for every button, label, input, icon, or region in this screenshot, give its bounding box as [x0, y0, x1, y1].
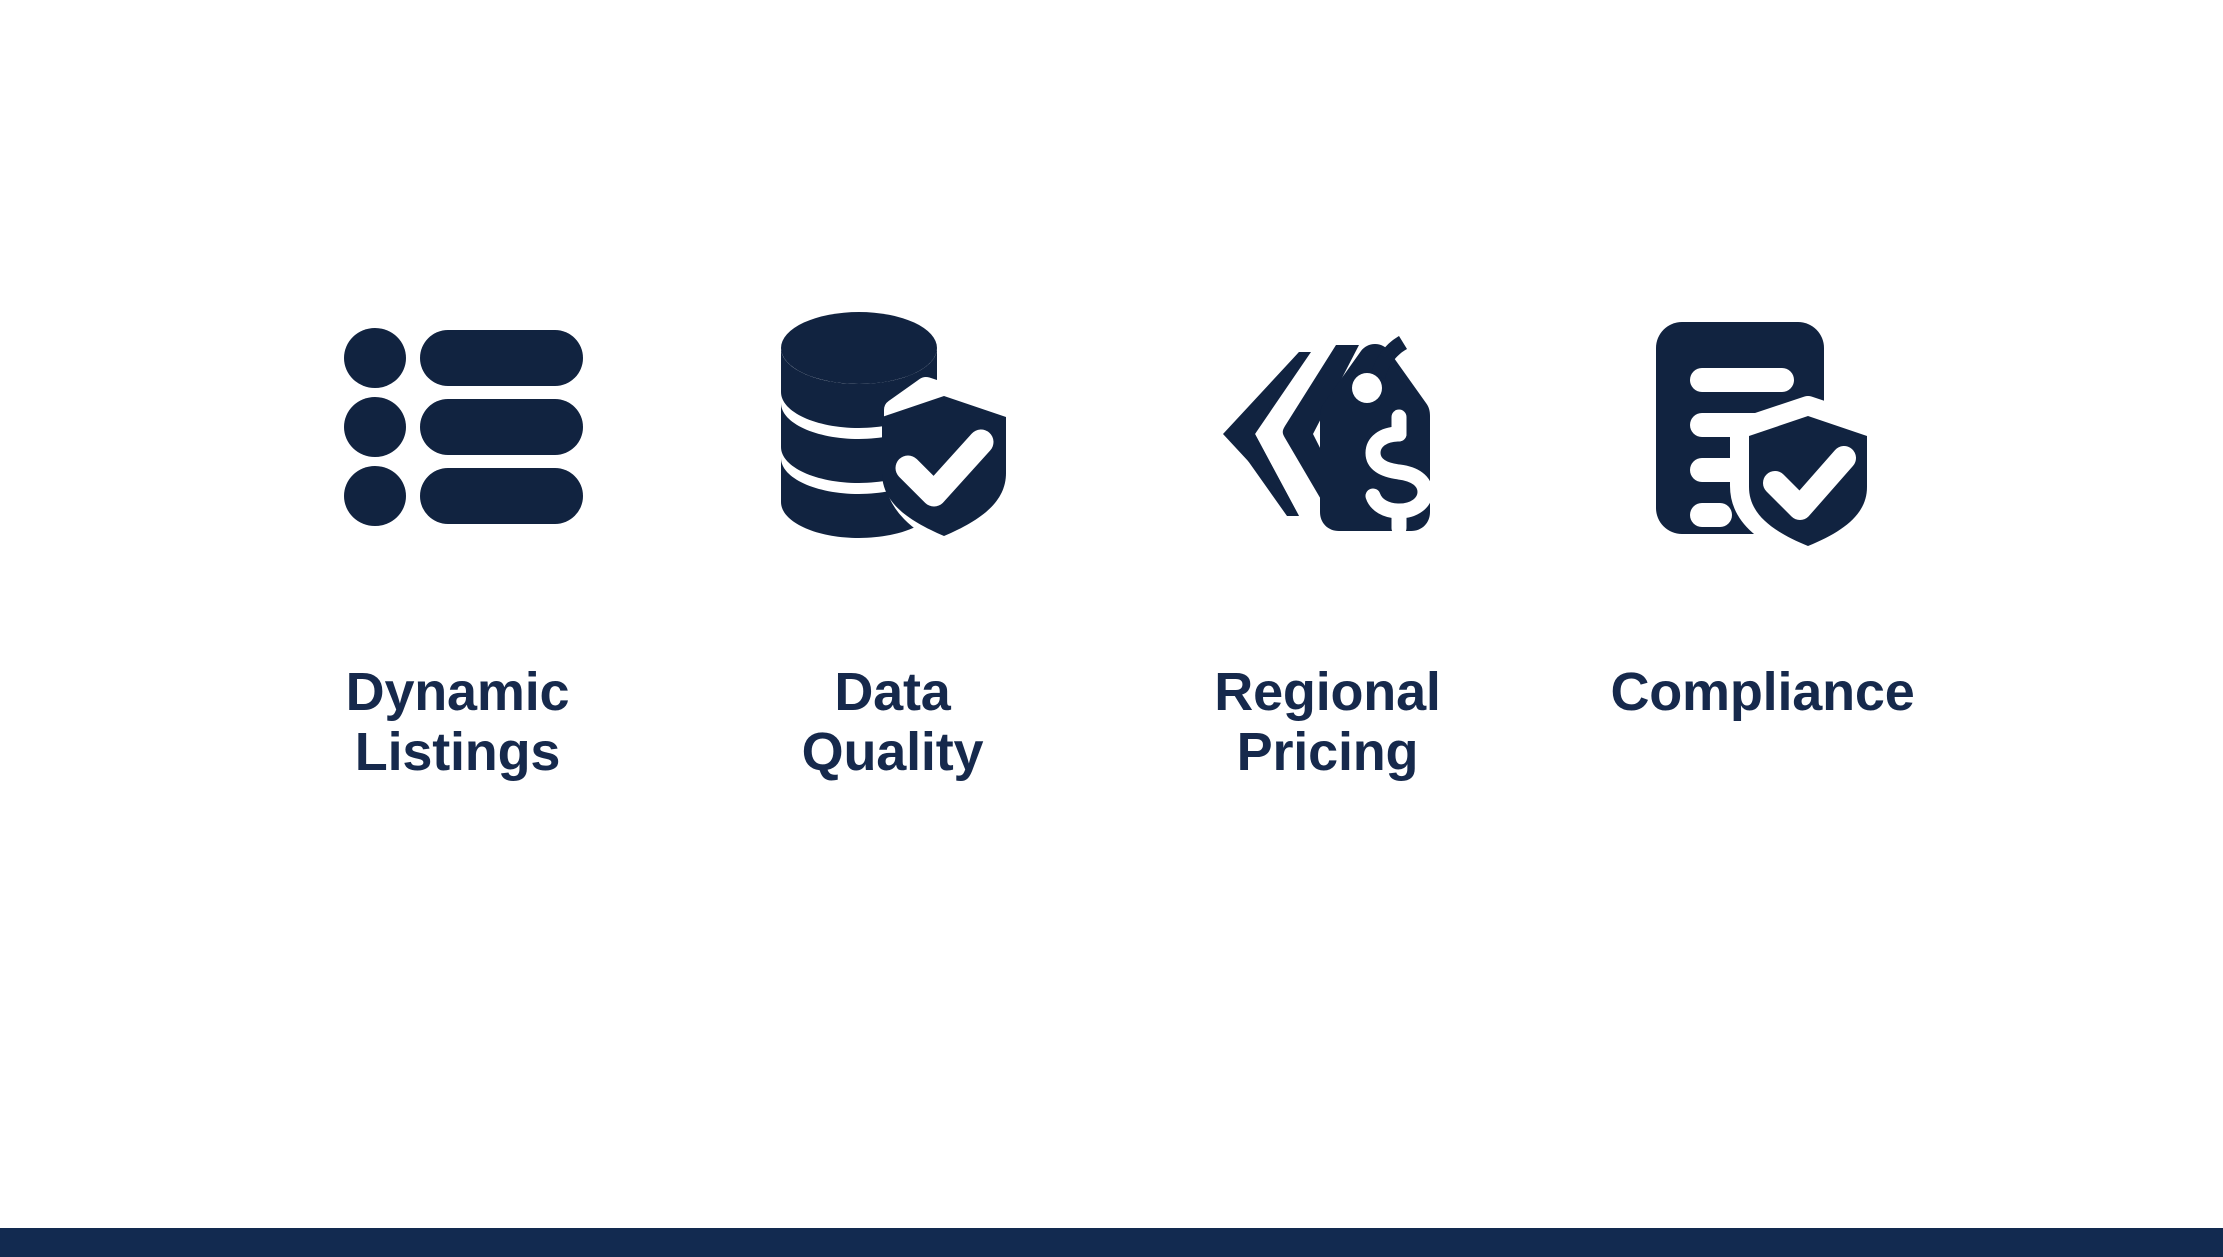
feature-row: Dynamic Listings [240, 300, 2000, 820]
bulleted-list-icon [333, 300, 583, 550]
feature-item-compliance[interactable]: Compliance [1545, 300, 1980, 722]
database-shield-check-icon [768, 300, 1018, 550]
feature-label: Data Quality [802, 662, 984, 783]
feature-item-dynamic-listings[interactable]: Dynamic Listings [240, 300, 675, 783]
feature-label: Dynamic Listings [346, 662, 570, 783]
price-tags-dollar-icon [1203, 300, 1453, 550]
feature-label: Compliance [1610, 662, 1914, 722]
feature-item-data-quality[interactable]: Data Quality [675, 300, 1110, 783]
feature-item-regional-pricing[interactable]: Regional Pricing [1110, 300, 1545, 783]
bottom-accent-bar [0, 1228, 2223, 1257]
slide-canvas: Dynamic Listings [0, 0, 2223, 1257]
document-shield-check-icon [1638, 300, 1888, 550]
feature-label: Regional Pricing [1214, 662, 1440, 783]
